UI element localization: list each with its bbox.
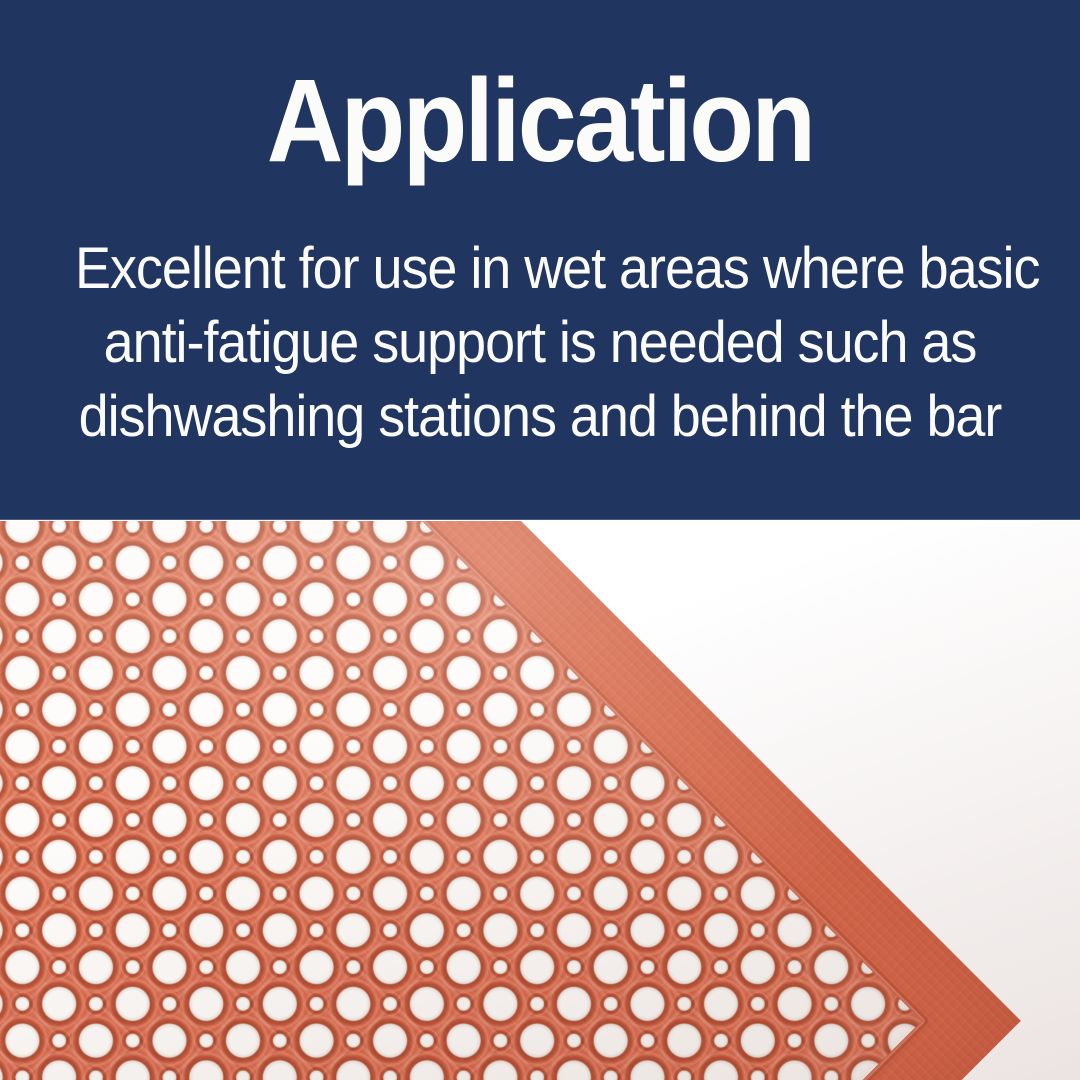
- hero-description-line-1: Excellent for use in wet areas where bas…: [75, 232, 1005, 306]
- mat-surface: [0, 521, 1021, 1080]
- panel-divider: [0, 519, 1080, 520]
- hero-description-line-3: dishwashing stations and behind the bar: [75, 380, 1005, 454]
- hero-description-line-2: anti-fatigue support is needed such as: [75, 306, 1005, 380]
- hero-panel: Application Excellent for use in wet are…: [0, 0, 1080, 520]
- hero-description: Excellent for use in wet areas where bas…: [75, 232, 1005, 454]
- product-feature-card: Application Excellent for use in wet are…: [0, 0, 1080, 1080]
- drainage-mat: [0, 521, 1021, 1080]
- page-title: Application: [54, 58, 1026, 185]
- product-photo: [0, 521, 1080, 1080]
